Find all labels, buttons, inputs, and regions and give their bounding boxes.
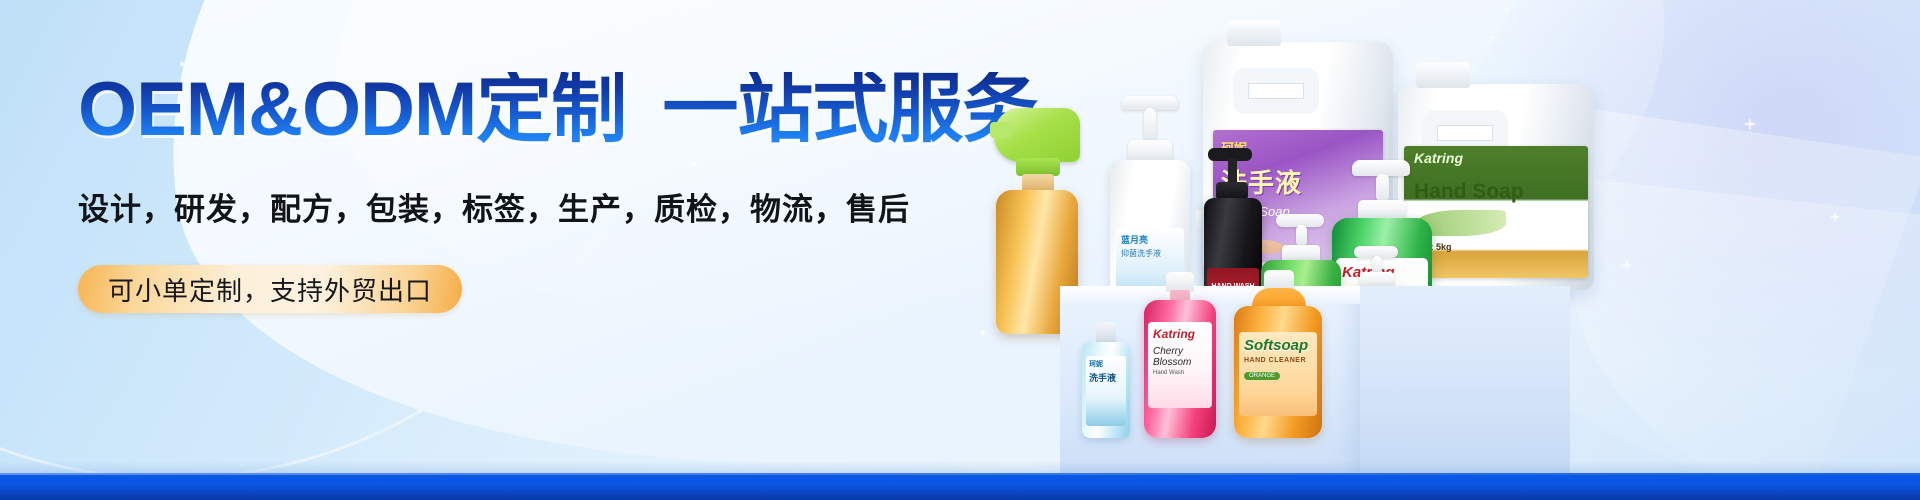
headline-primary: OEM&ODM定制 xyxy=(78,67,626,152)
label-name: HAND CLEANER xyxy=(1244,357,1312,364)
bottle-label: Softsoap HAND CLEANER ORANGE xyxy=(1239,332,1317,416)
bottle-cap xyxy=(1166,272,1194,292)
label-name: Cherry Blossom xyxy=(1153,346,1207,368)
pump-collar xyxy=(1128,140,1172,162)
label-brand: 蓝月亮 xyxy=(1121,233,1179,246)
label-name: 抑菌洗手液 xyxy=(1121,248,1179,259)
bottle-cap xyxy=(1096,322,1116,344)
pump-stem xyxy=(1376,174,1389,202)
banner-headline: OEM&ODM定制一站式服务 xyxy=(78,72,1058,148)
pedestal-right xyxy=(1360,286,1570,480)
label-flavor: ORANGE xyxy=(1244,372,1280,380)
label-name: 洗手液 xyxy=(1089,371,1123,384)
banner-badge[interactable]: 可小单定制，支持外贸出口 xyxy=(78,265,462,313)
pump-stem xyxy=(1144,108,1156,142)
banner-subtitle: 设计，研发，配方，包装，标签，生产，质检，物流，售后 xyxy=(78,184,1058,229)
bottle-label: Katring Cherry Blossom Hand Wash xyxy=(1148,322,1212,408)
label-brand: 珂妮 xyxy=(1089,359,1123,369)
jerrycan-handle xyxy=(1233,68,1319,114)
promo-banner: OEM&ODM定制一站式服务 设计，研发，配方，包装，标签，生产，质检，物流，售… xyxy=(0,0,1920,500)
bottle-softsoap-orange: Softsoap HAND CLEANER ORANGE xyxy=(1234,270,1322,438)
pump-stem xyxy=(1296,225,1307,247)
product-stage: 珂妮 洗手液 Liquid Soap 清洁洗手 Katring Hand Soa… xyxy=(960,0,1920,500)
sparkle-dot xyxy=(180,62,184,66)
bottle-cherry-blossom: Katring Cherry Blossom Hand Wash xyxy=(1144,272,1216,438)
label-brand: Softsoap xyxy=(1244,337,1312,354)
label-brand: Katring xyxy=(1153,327,1207,341)
jerrycan-cap xyxy=(1227,20,1281,46)
bottom-bar-shadow xyxy=(0,461,1920,473)
bottle-cap xyxy=(1264,270,1294,290)
banner-text-block: OEM&ODM定制一站式服务 设计，研发，配方，包装，标签，生产，质检，物流，售… xyxy=(78,72,1058,313)
bottom-accent-bar xyxy=(0,473,1920,500)
spray-nozzle xyxy=(990,122,1012,138)
jerrycan-cap xyxy=(1416,62,1470,88)
bottle-label: 珂妮 洗手液 xyxy=(1086,356,1126,426)
label-sub: Hand Wash xyxy=(1153,370,1207,376)
bottle-blue-sanitizer: 珂妮 洗手液 xyxy=(1082,322,1130,438)
